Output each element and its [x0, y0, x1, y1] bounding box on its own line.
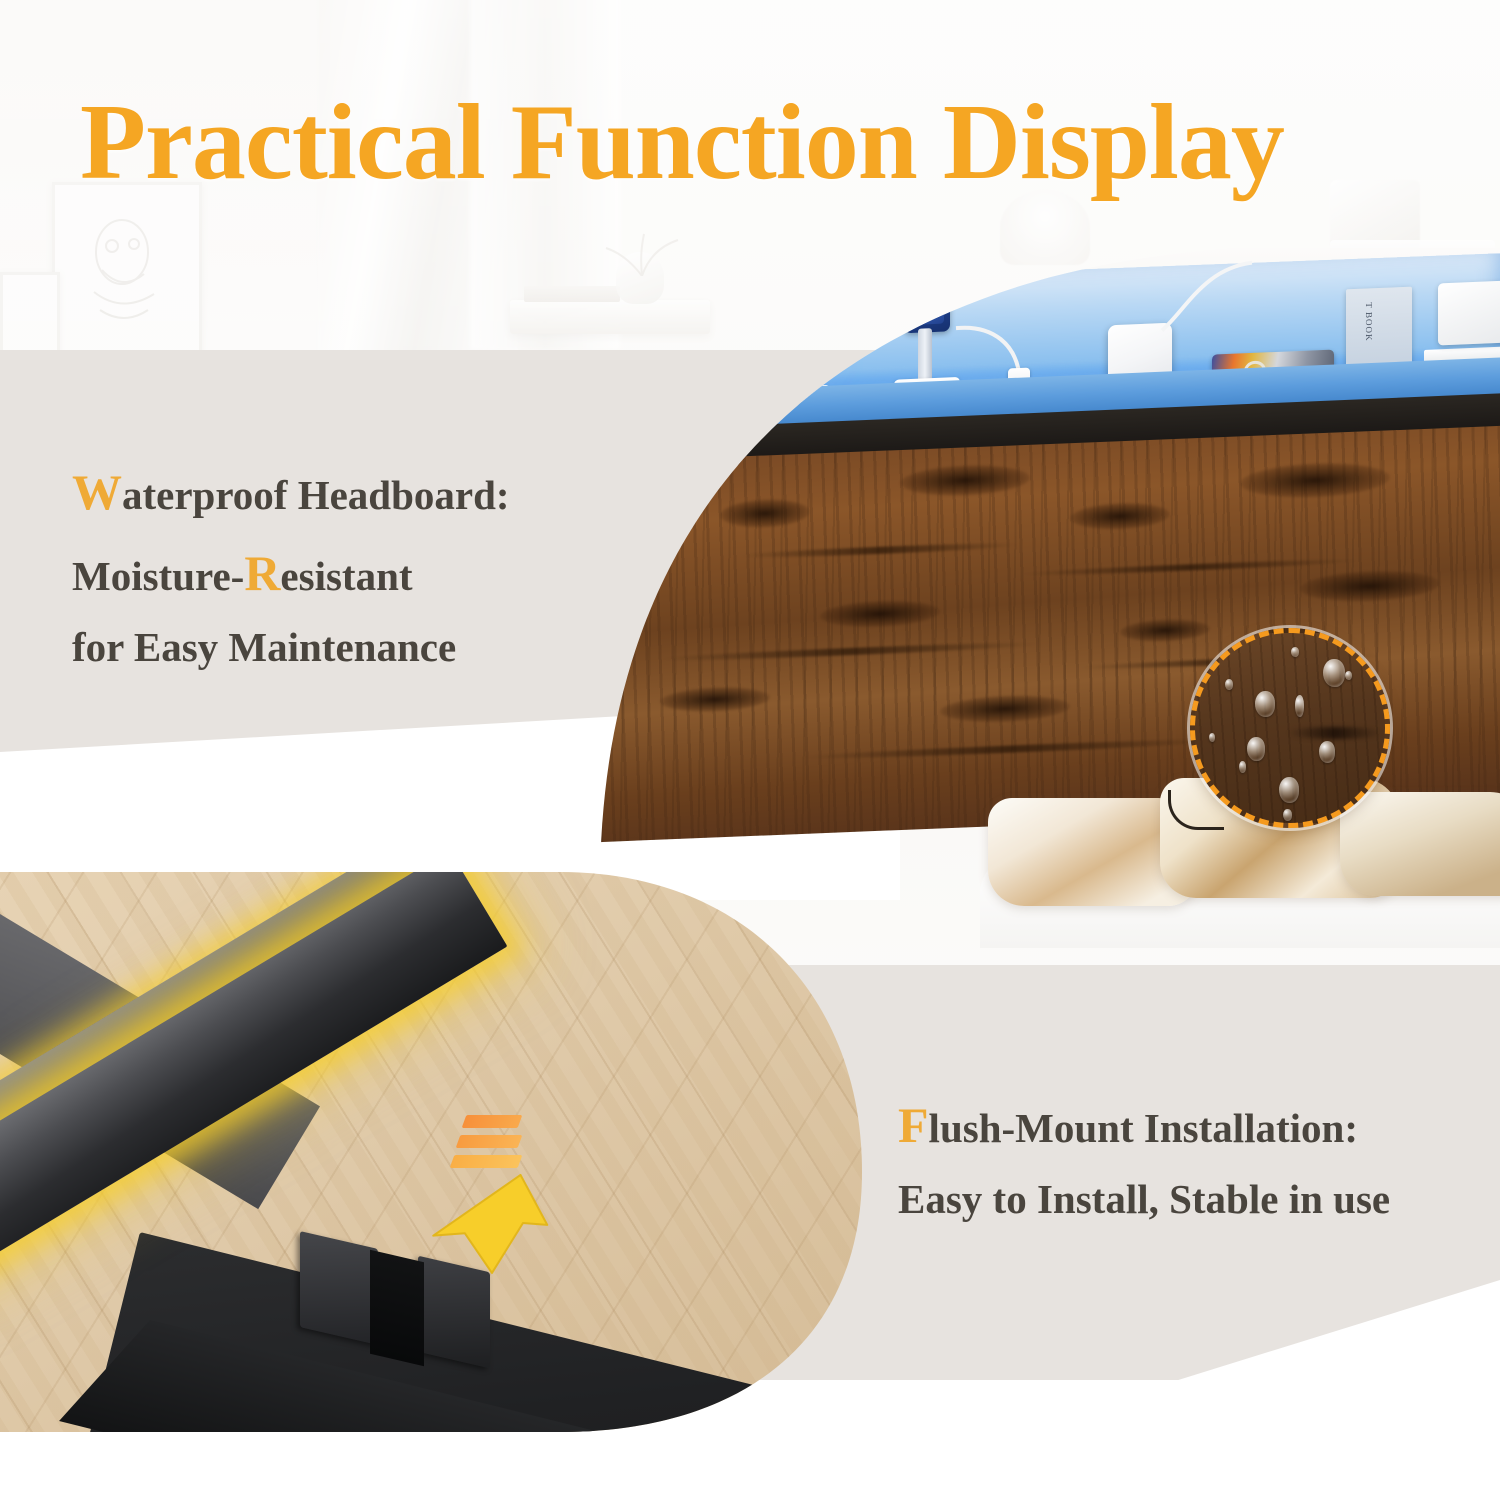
feature-text-waterproof: Waterproof Headboard: Moisture-Resistant…: [72, 452, 592, 680]
drop-cap-w: W: [72, 464, 122, 520]
book-upright-label: T BOOK: [1364, 302, 1374, 342]
tissue-box: [1438, 280, 1500, 345]
feature-line-1: Waterproof Headboard:: [72, 452, 592, 533]
accent-pillow: [1340, 792, 1500, 896]
feature-line-1-rest: aterproof Headboard:: [122, 472, 510, 518]
feature-line-2: Easy to Install, Stable in use: [898, 1166, 1478, 1232]
feature-line-1: Flush-Mount Installation:: [898, 1085, 1478, 1166]
arrow-head-icon: [430, 1167, 550, 1285]
feature-line-1-rest: lush-Mount Installation:: [929, 1105, 1358, 1151]
marketing-image-root: Practical Function Display ...RUSOE The …: [0, 0, 1500, 1500]
feature-line-3: for Easy Maintenance: [72, 614, 592, 680]
motion-chevron-1: [462, 1115, 523, 1128]
feature-line-2-pre: Moisture-: [72, 553, 244, 599]
page-title: Practical Function Display: [80, 88, 1460, 198]
feature-line-2-rest: esistant: [280, 553, 412, 599]
drop-cap-r: R: [244, 545, 280, 601]
motion-chevron-2: [456, 1135, 523, 1148]
charger-cable: [1156, 257, 1286, 342]
bracket-slot: [370, 1250, 424, 1366]
drop-cap-f: F: [898, 1097, 929, 1153]
feature-text-flushmount: Flush-Mount Installation: Easy to Instal…: [898, 1085, 1478, 1232]
insertion-arrow: [430, 1115, 560, 1285]
feature-line-2: Moisture-Resistant: [72, 533, 592, 614]
waterproof-detail-circle: [1190, 628, 1390, 828]
